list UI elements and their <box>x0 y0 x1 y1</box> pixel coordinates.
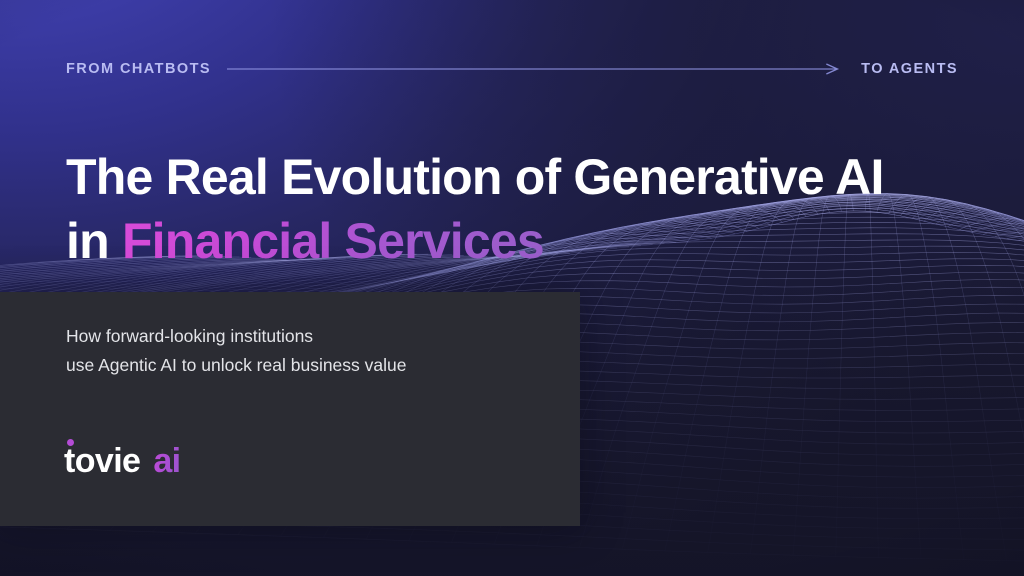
slide-canvas: FROM CHATBOTS TO AGENTS The Real Evoluti… <box>0 0 1024 576</box>
subtitle-line-1: How forward-looking institutions <box>66 322 407 351</box>
headline-accent: Financial Services <box>122 213 544 269</box>
headline-line-2-prefix: in <box>66 213 122 269</box>
subtitle-line-2: use Agentic AI to unlock real business v… <box>66 351 407 380</box>
info-card: How forward-looking institutions use Age… <box>0 292 580 526</box>
headline-line-2: in Financial Services <box>66 209 986 273</box>
logo: tovie ai <box>64 444 181 486</box>
logo-word-text: tovie <box>64 442 140 480</box>
subtitle: How forward-looking institutions use Age… <box>66 322 407 380</box>
logo-ai-text: ai <box>153 444 180 478</box>
logo-wordmark: tovie <box>64 444 140 478</box>
headline-line-1: The Real Evolution of Generative AI <box>66 145 986 209</box>
page-title: The Real Evolution of Generative AI in F… <box>66 145 986 273</box>
eyebrow-label-from: FROM CHATBOTS <box>66 62 211 77</box>
arrow-right-icon <box>227 63 845 75</box>
logo-dot-icon <box>67 439 74 446</box>
eyebrow-row: FROM CHATBOTS TO AGENTS <box>66 58 958 80</box>
eyebrow-label-to: TO AGENTS <box>861 62 958 77</box>
